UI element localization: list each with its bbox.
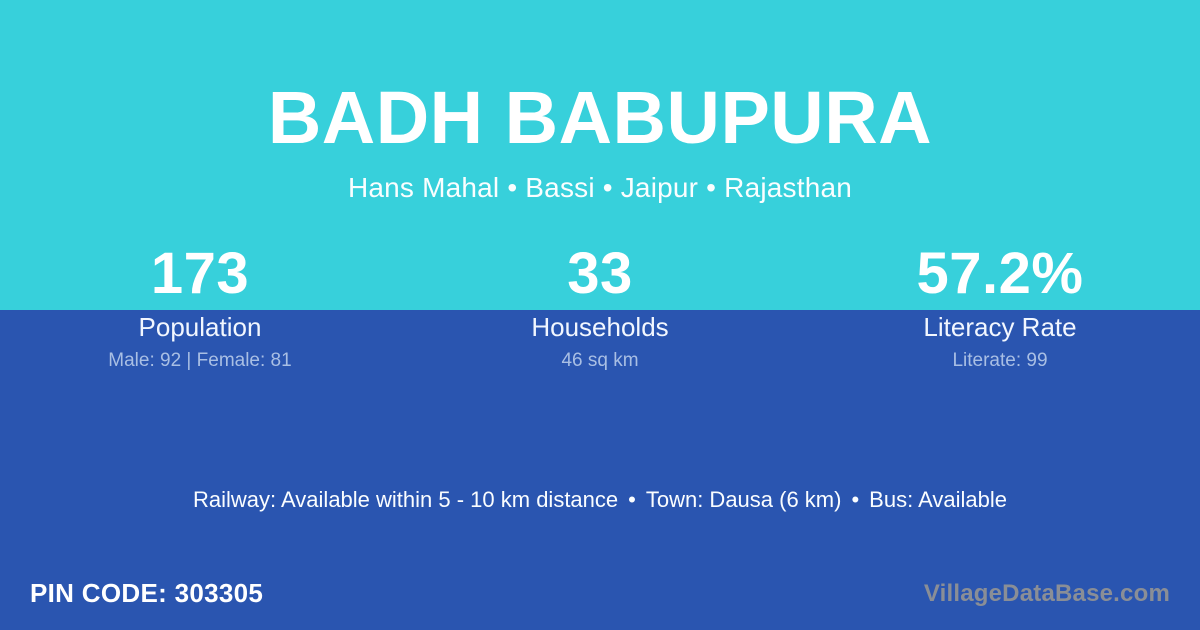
stat-households-label: Households — [400, 312, 800, 342]
stat-population: 173 Population Male: 92 | Female: 81 — [0, 243, 400, 372]
stat-population-value: 173 — [0, 243, 400, 305]
stat-households-value: 33 — [400, 243, 800, 305]
info-separator-2-icon: • — [841, 487, 869, 512]
stat-literacy-rate-value: 57.2% — [800, 243, 1200, 305]
amenities-info-line: Railway: Available within 5 - 10 km dist… — [0, 486, 1200, 514]
stat-population-label: Population — [0, 312, 400, 342]
stat-literacy-rate-label: Literacy Rate — [800, 312, 1200, 342]
info-town: Town: Dausa (6 km) — [646, 487, 842, 512]
stat-households-sub: 46 sq km — [400, 350, 800, 372]
stat-households: 33 Households 46 sq km — [400, 243, 800, 372]
header-section: BADH BABUPURA Hans Mahal • Bassi • Jaipu… — [0, 0, 1200, 204]
site-watermark: VillageDataBase.com — [924, 580, 1170, 608]
stat-population-sub: Male: 92 | Female: 81 — [0, 350, 400, 372]
stat-literacy-rate-sub: Literate: 99 — [800, 350, 1200, 372]
footer-section: PIN CODE: 303305 VillageDataBase.com — [0, 575, 1200, 630]
stat-literacy-rate: 57.2% Literacy Rate Literate: 99 — [800, 243, 1200, 372]
info-bus: Bus: Available — [869, 487, 1007, 512]
stats-row: 173 Population Male: 92 | Female: 81 33 … — [0, 243, 1200, 372]
info-railway: Railway: Available within 5 - 10 km dist… — [193, 487, 618, 512]
info-separator-1-icon: • — [618, 487, 646, 512]
page-title: BADH BABUPURA — [0, 80, 1200, 155]
pin-code: PIN CODE: 303305 — [30, 578, 263, 609]
breadcrumb: Hans Mahal • Bassi • Jaipur • Rajasthan — [0, 172, 1200, 204]
village-info-card: BADH BABUPURA Hans Mahal • Bassi • Jaipu… — [0, 0, 1200, 630]
